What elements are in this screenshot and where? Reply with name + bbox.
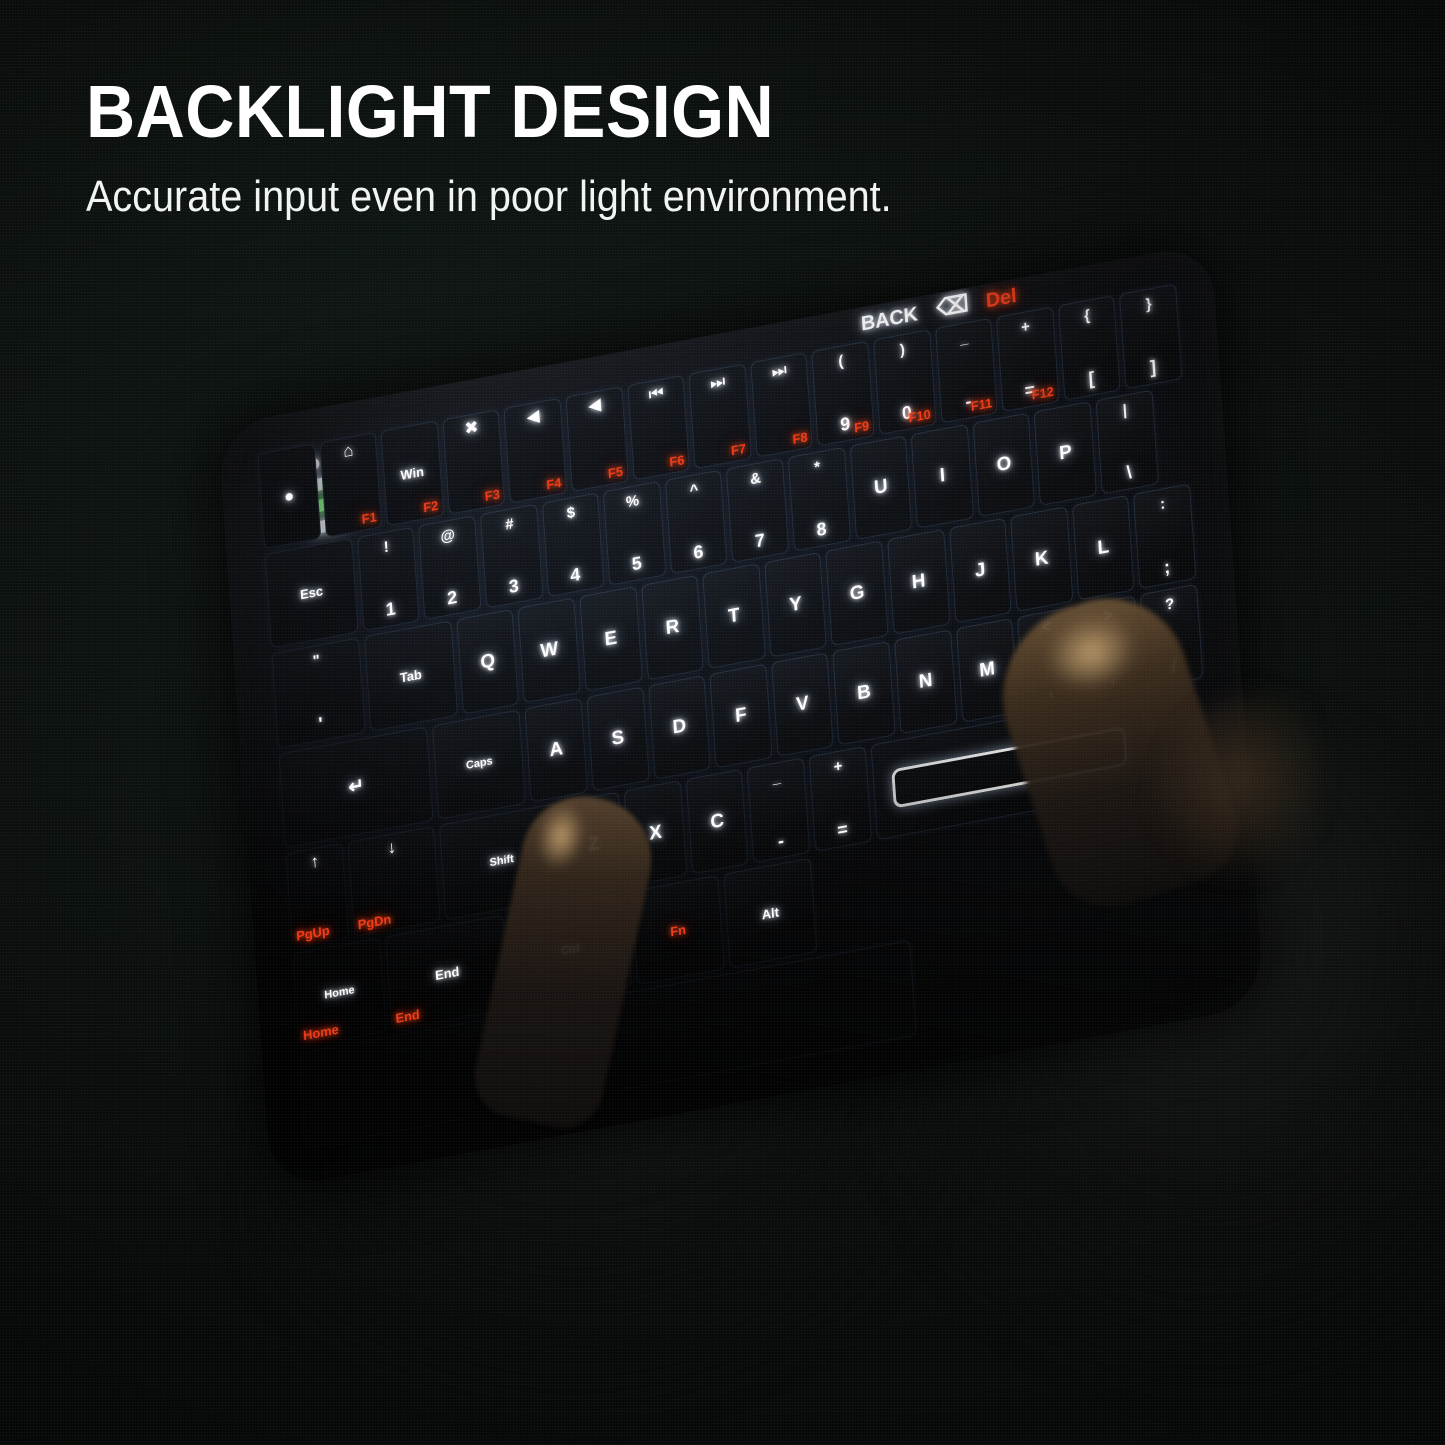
key-a[interactable]: A [525,697,588,802]
key-alt-label: Alt [761,905,779,921]
key-underscore[interactable]: _- [747,758,810,863]
key-mute[interactable]: ✖F3 [442,409,505,514]
key-l-label: L [1097,537,1110,558]
key-x[interactable]: X [624,780,687,885]
key-bracket-left-base: [ [1088,367,1095,389]
product-photo-scene: BACK ⌫ Del ●⌂F1WinF2✖F3◀F4◀F5⏮F6⏭F7⏭F8(9… [0,0,1445,1445]
key-equal-fn-label: F12 [1031,383,1054,402]
led-bar-1 [279,457,320,479]
key-t[interactable]: T [702,563,765,668]
delete-label: Del [985,285,1017,314]
key-backslash[interactable]: |\ [1095,389,1158,494]
key-s[interactable]: S [586,686,649,791]
key-6[interactable]: ^6 [665,469,728,574]
key-3[interactable]: #3 [480,503,543,608]
key-tab-label: Tab [400,667,423,684]
key-f[interactable]: F [709,663,772,768]
key-z-label: Z [588,834,601,855]
key-p[interactable]: P [1034,401,1097,506]
key-9-base: 9 [840,413,851,436]
key-u-label: U [873,477,888,499]
key-d[interactable]: D [648,675,711,780]
key-c[interactable]: C [686,769,749,874]
keyboard-top-labels: BACK ⌫ Del [255,245,1176,455]
key-slash[interactable]: ?/ [1140,583,1203,688]
key-fn[interactable]: Fn [631,875,725,986]
key-equal-shifted: + [1021,318,1031,337]
key-0-shifted: ) [899,341,905,359]
key-4-base: 4 [570,564,581,587]
key-j-label: J [974,560,986,581]
backspace-label: BACK [860,303,918,337]
key-r[interactable]: R [641,575,704,680]
icon-voldown-icon: ◀ [526,407,540,426]
key-volume-up-fn-label: F5 [607,463,623,481]
key-a-label: A [549,739,564,761]
key-end[interactable]: EndEnd [385,915,510,1032]
key-quote-shifted: " [312,652,320,670]
key-m-label: M [979,659,996,681]
key-volume-up[interactable]: ◀F5 [565,386,628,491]
page-title: BACKLIGHT DESIGN [86,74,1144,149]
key-n[interactable]: N [894,629,957,734]
key-p-label: P [1059,443,1073,464]
key-s-label: S [611,728,625,749]
key-home2-label: Home [324,985,355,1002]
key-2-base: 2 [447,587,458,610]
key-play-pause-fn-label: F7 [730,440,746,458]
key-2[interactable]: @2 [418,515,481,620]
key-8-base: 8 [816,518,827,541]
key-home[interactable]: ⌂F1 [319,432,382,537]
key-home2-fn-label: Home [303,1022,340,1044]
key-q-label: Q [480,651,496,673]
key-minus-shifted: _ [959,329,968,348]
key-1-shifted: ! [383,538,389,556]
key-win[interactable]: WinF2 [381,420,444,525]
key-f-label: F [735,705,748,726]
key-equal[interactable]: +=F12 [996,306,1059,411]
key-win-label: Win [400,464,424,481]
key-k[interactable]: K [1010,506,1073,611]
key-mute-fn-label: F3 [484,486,500,504]
icon-volup-icon: ◀ [588,395,602,414]
key-pageup[interactable]: ↑PgUp [285,843,348,948]
key-bracket-left-shifted: { [1084,307,1091,325]
key-t-label: T [728,605,741,626]
key-volume-down[interactable]: ◀F4 [504,398,567,503]
backspace-arrow-icon: ⌫ [936,290,970,323]
key-pagedown-arrow-icon: ↓ [387,838,397,857]
key-caps[interactable]: Caps [432,709,526,820]
key-bracket-right-shifted: } [1145,295,1152,313]
key-e-label: E [604,628,618,649]
spacebar-outline [891,726,1128,809]
key-period[interactable]: >. [1079,595,1142,700]
key-pageup-fn-label: PgUp [296,922,330,943]
key-caps-label: Caps [466,756,493,772]
key-j[interactable]: J [949,518,1012,623]
key-enter-label: ↵ [348,776,365,798]
key-1[interactable]: !1 [357,526,420,631]
key-1-base: 1 [385,598,396,621]
key-minus[interactable]: _-F11 [935,318,998,423]
key-9-fn-label: F9 [854,417,870,435]
key-bracket-right-base: ] [1149,356,1156,378]
key-underscore-shifted: _ [772,769,781,788]
key-9[interactable]: (9F9 [811,341,874,446]
key-volume-down-fn-label: F4 [546,474,562,492]
key-semicolon-base: ; [1163,556,1170,578]
key-bracket-right[interactable]: }] [1119,284,1182,389]
key-esc[interactable]: Esc [265,537,359,648]
key-slash-shifted: ? [1165,595,1175,614]
key-semicolon[interactable]: :; [1133,483,1196,588]
key-pageup-arrow-icon: ↑ [310,853,320,872]
icon-play-icon: ⏭ [710,372,726,392]
key-home2[interactable]: HomeHome [292,937,386,1048]
key-win-fn-label: F2 [423,497,439,515]
key-bracket-left[interactable]: {[ [1058,295,1121,400]
key-0-fn-label: F10 [908,406,931,425]
key-home-fn-label: F1 [361,509,377,527]
keyboard-body: BACK ⌫ Del ●⌂F1WinF2✖F3◀F4◀F5⏮F6⏭F7⏭F8(9… [218,242,1264,1189]
key-blank-1 [299,940,916,1148]
key-plus-shifted: + [833,758,843,777]
icon-bulb-icon: ● [284,486,295,505]
key-2-shifted: @ [440,526,456,546]
key-pagedown-fn-label: PgDn [357,911,391,932]
key-h[interactable]: H [887,529,950,634]
key-fn-label: Fn [670,922,687,938]
key-5[interactable]: %5 [603,480,666,585]
key-esc-label: Esc [300,584,324,601]
key-z[interactable]: Z [562,792,625,897]
key-i-label: I [939,466,946,486]
key-quote[interactable]: "' [272,637,366,748]
icon-prev-icon: ⏮ [648,384,664,404]
key-backslash-shifted: | [1122,401,1127,419]
key-shift[interactable]: Shift [439,803,564,920]
key-ctrl[interactable]: Ctrl [508,892,633,1009]
key-spacebar[interactable] [870,695,1149,840]
key-8-shifted: * [814,458,821,476]
key-e[interactable]: E [579,586,642,691]
key-period-base: . [1109,667,1115,689]
icon-home-icon: ⌂ [343,441,354,460]
key-6-base: 6 [693,541,704,564]
key-next-track[interactable]: ⏭F8 [750,352,813,457]
key-w[interactable]: W [518,598,581,703]
key-semicolon-shifted: : [1160,495,1166,513]
key-9-shifted: ( [838,352,844,370]
key-prev-track[interactable]: ⏮F6 [627,375,690,480]
key-alt[interactable]: Alt [723,858,817,969]
key-slash-base: / [1171,656,1177,678]
key-v-label: V [796,694,810,715]
key-comma-shifted: < [1042,618,1052,637]
key-b-label: B [857,682,872,704]
key-4-shifted: $ [566,503,575,522]
key-7[interactable]: &7 [726,458,789,563]
key-7-base: 7 [754,530,765,553]
key-play-pause[interactable]: ⏭F7 [688,363,751,468]
key-0[interactable]: )0F10 [873,329,936,434]
key-ctrl-label: Ctrl [561,943,580,957]
key-period-shifted: > [1103,606,1113,625]
key-o[interactable]: O [972,412,1035,517]
key-comma[interactable]: <, [1017,606,1080,711]
key-comma-base: , [1048,679,1054,701]
key-3-base: 3 [508,575,519,598]
key-end-fn-label: End [395,1007,420,1027]
key-quote-base: ' [318,713,324,735]
key-minus-fn-label: F11 [970,395,992,414]
key-5-base: 5 [631,553,642,576]
led-bar-3 [299,495,340,517]
key-n-label: N [918,671,933,693]
key-m[interactable]: M [956,618,1019,723]
key-h-label: H [911,571,926,593]
key-shift-label: Shift [489,854,514,870]
key-pagedown[interactable]: ↓PgDn [347,826,441,937]
key-x-label: X [649,822,663,843]
key-y-label: Y [789,594,803,615]
key-r-label: R [665,617,680,639]
key-grid[interactable]: ●⌂F1WinF2✖F3◀F4◀F5⏮F6⏭F7⏭F8(9F9)0F10_-F1… [258,284,1225,1149]
key-g-label: G [849,582,865,604]
key-tab[interactable]: Tab [364,620,458,731]
key-q[interactable]: Q [456,609,519,714]
key-b[interactable]: B [832,640,895,745]
led-bar-2 [289,476,330,498]
key-6-shifted: ^ [689,481,699,500]
icon-next-icon: ⏭ [771,361,787,381]
key-o-label: O [996,454,1012,476]
key-3-shifted: # [505,515,514,534]
key-enter[interactable]: ↵ [278,726,434,849]
key-u[interactable]: U [849,435,912,540]
key-y[interactable]: Y [764,552,827,657]
key-8[interactable]: *8 [788,446,851,551]
mini-keyboard[interactable]: BACK ⌫ Del ●⌂F1WinF2✖F3◀F4◀F5⏮F6⏭F7⏭F8(9… [218,242,1264,1189]
icon-mute-icon: ✖ [464,418,479,438]
key-7-shifted: & [750,469,762,488]
key-4[interactable]: $4 [541,492,604,597]
key-i[interactable]: I [911,423,974,528]
key-next-track-fn-label: F8 [792,429,808,447]
headline-block: BACKLIGHT DESIGN Accurate input even in … [86,74,1236,222]
page-subtitle: Accurate input even in poor light enviro… [86,173,1121,221]
key-end-label: End [435,964,460,982]
key-plus-base: = [837,818,849,841]
key-g[interactable]: G [825,540,888,645]
key-d-label: D [672,717,687,739]
led-bar-4 [309,514,350,536]
key-5-shifted: % [625,491,639,511]
key-backslash-base: \ [1126,462,1132,484]
key-plus[interactable]: += [809,746,872,851]
key-c-label: C [710,811,725,833]
key-l[interactable]: L [1072,495,1135,600]
key-k-label: K [1034,548,1049,570]
key-underscore-base: - [777,830,784,852]
key-lightbulb[interactable]: ● [258,443,321,548]
key-prev-track-fn-label: F6 [669,452,685,470]
key-v[interactable]: V [771,652,834,757]
key-w-label: W [540,639,559,661]
